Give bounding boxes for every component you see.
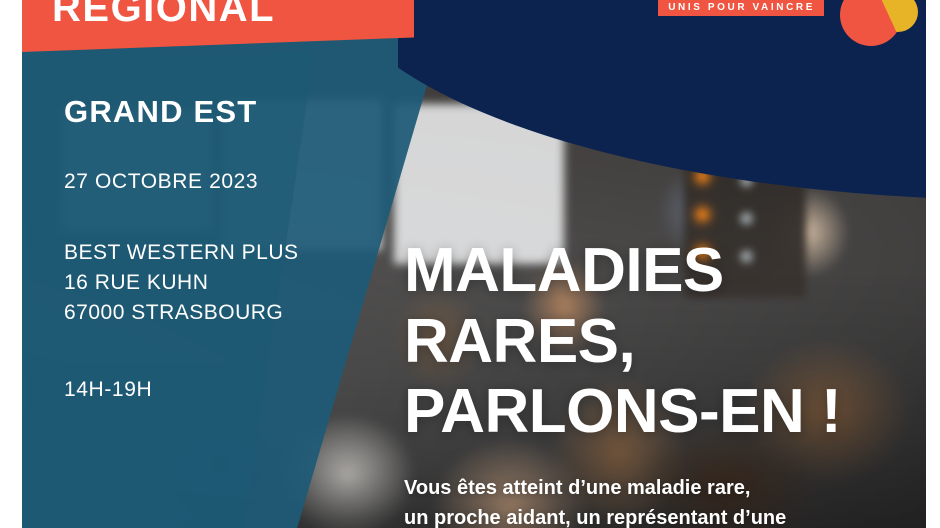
event-poster: RÉGIONAL UNIS POUR VAINCRE GRAND EST 27 … [0, 0, 940, 528]
event-date: 27 OCTOBRE 2023 [64, 171, 364, 192]
lede-line: un proche aidant, un représentant d’une [404, 504, 874, 528]
event-hours: 14H-19H [64, 379, 364, 400]
address-line: 67000 STRASBOURG [64, 298, 364, 328]
poster-kicker-title: RÉGIONAL [52, 0, 275, 31]
poster-lede-paragraph: Vous êtes atteint d’une maladie rare, un… [404, 474, 874, 528]
poster-headline: MALADIES RARES, PARLONS-EN ! [404, 236, 841, 448]
organisation-logo: UNIS POUR VAINCRE [658, 0, 918, 62]
headline-line: RARES, [404, 307, 841, 378]
logo-text-group: UNIS POUR VAINCRE [658, 0, 824, 16]
headline-line: PARLONS-EN ! [404, 377, 841, 448]
lede-line: Vous êtes atteint d’une maladie rare, [404, 474, 874, 504]
headline-line: MALADIES [404, 236, 841, 307]
address-line: 16 RUE KUHN [64, 268, 364, 298]
logo-tagline: UNIS POUR VAINCRE [658, 0, 824, 16]
address-line: BEST WESTERN PLUS [64, 238, 364, 268]
event-info-column: GRAND EST 27 OCTOBRE 2023 BEST WESTERN P… [64, 96, 364, 400]
event-address: BEST WESTERN PLUS 16 RUE KUHN 67000 STRA… [64, 238, 364, 327]
logo-mark-icon [840, 0, 918, 62]
event-region: GRAND EST [64, 96, 364, 127]
page-margin-left [0, 0, 22, 528]
page-margin-right [926, 0, 940, 528]
